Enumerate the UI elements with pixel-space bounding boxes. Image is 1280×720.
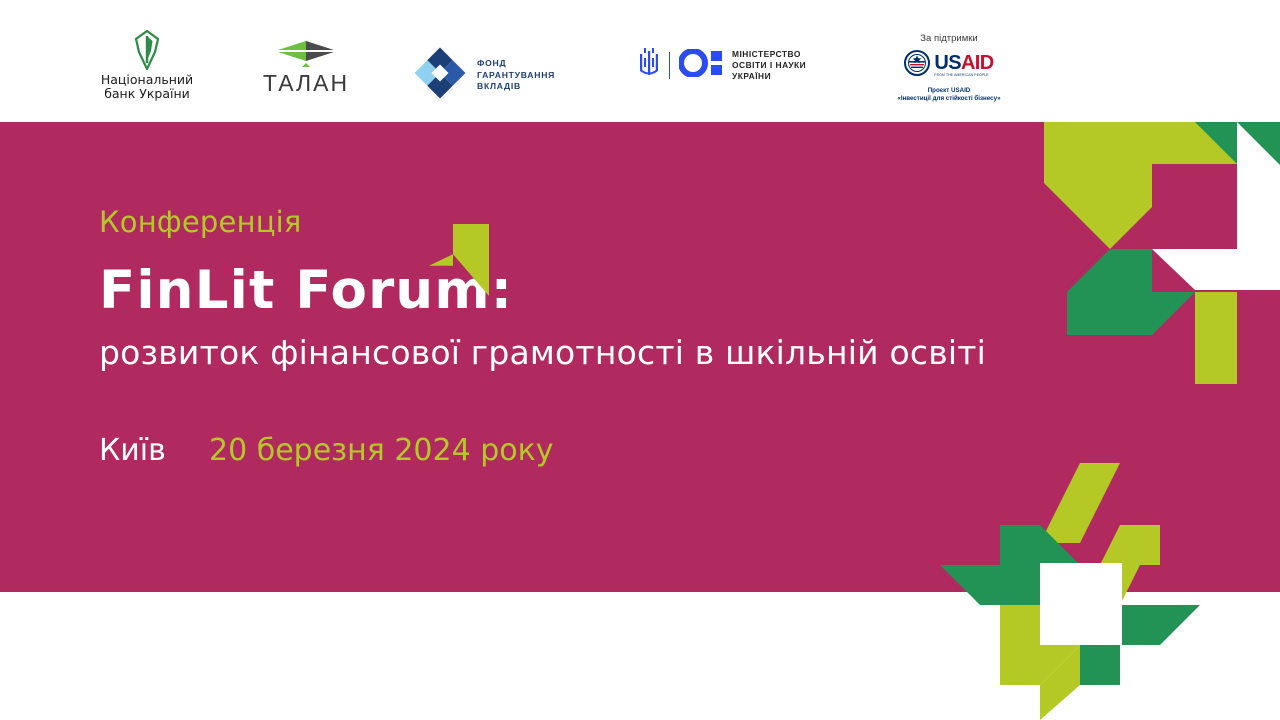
- usaid-seal-icon: [904, 50, 930, 81]
- logo-national-bank-of-ukraine: Національний банк України: [92, 30, 202, 101]
- talan-label: ТАЛАН: [256, 70, 356, 97]
- dgf-emblem-icon: [414, 47, 466, 104]
- talan-emblem-icon: [256, 40, 356, 68]
- nbu-emblem-icon: [92, 30, 202, 70]
- mon-emblem-icon: [679, 49, 723, 82]
- decorative-pattern-bottom-right: [920, 430, 1220, 720]
- usaid-project-label: Проєкт USAID «Інвестиції для стійкості б…: [874, 87, 1024, 104]
- logo-ministry-of-education: МІНІСТЕРСТВО ОСВІТИ І НАУКИ УКРАЇНИ: [638, 48, 806, 83]
- sponsor-logo-bar: Національний банк України ТАЛАН: [0, 0, 1280, 122]
- usaid-wordmark-aid: AID: [961, 52, 994, 74]
- event-kicker: Конференція: [99, 205, 1059, 239]
- usaid-wordmark: USAID: [934, 54, 993, 73]
- title-row: FinLit Forum:: [99, 260, 1059, 322]
- nbu-label: Національний банк України: [92, 73, 202, 101]
- conference-title-slide: Національний банк України ТАЛАН: [0, 0, 1280, 720]
- hero-content: Конференція FinLit Forum: розвиток фінан…: [99, 122, 1059, 468]
- event-date: 20 березня 2024 року: [209, 433, 553, 468]
- event-city: Київ: [99, 433, 209, 468]
- mon-label: МІНІСТЕРСТВО ОСВІТИ І НАУКИ УКРАЇНИ: [732, 49, 806, 82]
- usaid-tagline: FROM THE AMERICAN PEOPLE: [934, 73, 988, 77]
- event-meta: Київ 20 березня 2024 року: [99, 433, 1059, 468]
- usaid-support-label: За підтримки: [874, 33, 1024, 44]
- logo-usaid: За підтримки USAID FROM THE AMERICAN PEO…: [874, 33, 1024, 104]
- event-title: FinLit Forum:: [99, 260, 1059, 322]
- logo-deposit-guarantee-fund: ФОНД ГАРАНТУВАННЯ ВКЛАДІВ: [414, 47, 555, 104]
- logo-talan: ТАЛАН: [256, 40, 356, 97]
- ukraine-trident-icon: [638, 48, 660, 83]
- event-subtitle: розвиток фінансової грамотності в шкільн…: [99, 333, 1059, 372]
- dgf-label: ФОНД ГАРАНТУВАННЯ ВКЛАДІВ: [477, 58, 555, 92]
- usaid-wordmark-us: US: [934, 52, 961, 74]
- mon-divider: [669, 52, 670, 79]
